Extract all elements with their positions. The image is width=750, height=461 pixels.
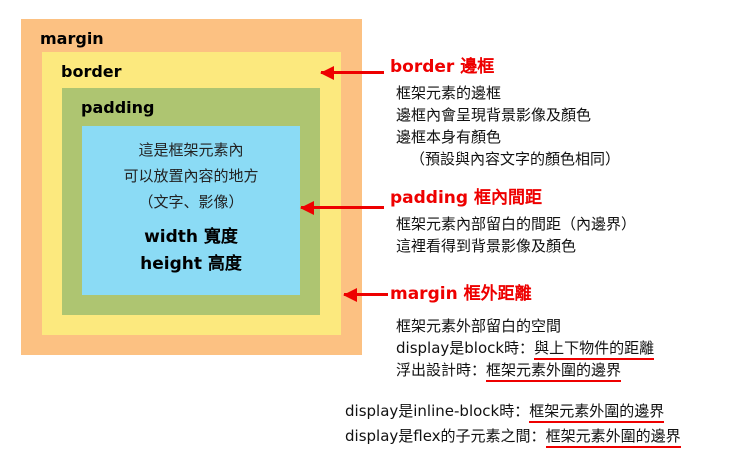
flex-note-underlined: 框架元素外圍的邊界 (546, 427, 681, 448)
arrow-to-padding-icon (301, 206, 384, 209)
border-annotation-line-3: 邊框本身有顏色 (396, 126, 620, 148)
arrow-to-margin-icon (344, 293, 388, 296)
content-dimensions: width 寬度 height 高度 (82, 224, 300, 278)
margin-annotation-line-3: 浮出設計時：框架元素外圍的邊界 (396, 359, 654, 381)
margin-annotation-body: 框架元素外部留白的空間 display是block時：與上下物件的距離 浮出設計… (396, 315, 654, 381)
arrow-to-border-icon (321, 71, 384, 74)
inline-block-note-plain: display是inline-block時： (345, 402, 529, 420)
display-mode-notes: display是inline-block時：框架元素外圍的邊界 display是… (345, 399, 681, 449)
border-annotation-line-2: 邊框內會呈現背景影像及顏色 (396, 104, 620, 126)
margin-annotation-line-1: 框架元素外部留白的空間 (396, 315, 654, 337)
padding-annotation-body: 框架元素內部留白的間距（內邊界） 這裡看得到背景影像及顏色 (396, 213, 636, 257)
content-line-1: 這是框架元素內 (82, 137, 300, 163)
margin-line-3-underlined: 框架元素外圍的邊界 (486, 361, 621, 382)
content-line-3: （文字、影像） (82, 189, 300, 215)
border-annotation-body: 框架元素的邊框 邊框內會呈現背景影像及顏色 邊框本身有顏色 （預設與內容文字的顏… (396, 82, 620, 170)
margin-line-3-plain: 浮出設計時： (396, 361, 486, 379)
inline-block-note-underlined: 框架元素外圍的邊界 (529, 402, 664, 423)
margin-layer-label: margin (40, 31, 104, 47)
margin-annotation-group: margin 框外距離 框架元素外部留白的空間 display是block時：與… (390, 283, 654, 381)
padding-annotation-group: padding 框內間距 框架元素內部留白的間距（內邊界） 這裡看得到背景影像及… (390, 187, 636, 257)
padding-layer-label: padding (81, 100, 154, 116)
margin-annotation-heading: margin 框外距離 (390, 283, 654, 305)
border-annotation-line-1: 框架元素的邊框 (396, 82, 620, 104)
display-inline-block-note: display是inline-block時：框架元素外圍的邊界 (345, 399, 681, 424)
margin-line-2-underlined: 與上下物件的距離 (534, 339, 654, 360)
content-area-text: 這是框架元素內 可以放置內容的地方 （文字、影像） width 寬度 heigh… (82, 137, 300, 278)
display-flex-note: display是flex的子元素之間：框架元素外圍的邊界 (345, 424, 681, 449)
content-line-2: 可以放置內容的地方 (82, 163, 300, 189)
width-label: width 寬度 (82, 224, 300, 251)
margin-line-2-plain: display是block時： (396, 339, 534, 357)
padding-annotation-line-2: 這裡看得到背景影像及顏色 (396, 235, 636, 257)
height-label: height 高度 (82, 251, 300, 278)
margin-annotation-line-2: display是block時：與上下物件的距離 (396, 337, 654, 359)
border-layer-label: border (61, 64, 122, 80)
padding-annotation-heading: padding 框內間距 (390, 187, 636, 209)
border-annotation-line-4: （預設與內容文字的顏色相同） (396, 148, 620, 170)
flex-note-plain: display是flex的子元素之間： (345, 427, 546, 445)
border-annotation-group: border 邊框 框架元素的邊框 邊框內會呈現背景影像及顏色 邊框本身有顏色 … (390, 56, 620, 170)
border-annotation-heading: border 邊框 (390, 56, 620, 78)
margin-line-1-plain: 框架元素外部留白的空間 (396, 317, 561, 335)
padding-annotation-line-1: 框架元素內部留白的間距（內邊界） (396, 213, 636, 235)
css-box-model-diagram: margin border padding 這是框架元素內 可以放置內容的地方 … (21, 19, 362, 355)
